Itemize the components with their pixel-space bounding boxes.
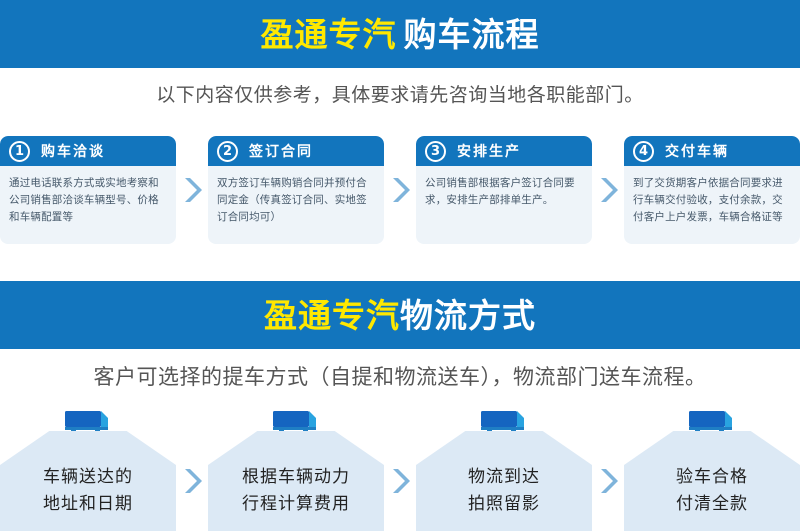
step-body-text: 通过电话联系方式或实地考察和公司销售部洽谈车辆型号、价格和车辆配置等	[0, 166, 176, 226]
purchase-step-card-3[interactable]: 3 安排生产 公司销售部根据客户签订合同要求，安排生产部排单生产。	[416, 136, 592, 244]
step-body-text: 公司销售部根据客户签订合同要求，安排生产部排单生产。	[416, 166, 592, 209]
chevron-right-icon	[384, 408, 416, 531]
purchase-step-card-4[interactable]: 4 交付车辆 到了交货期客户依据合同要求进行车辆交付验收，支付余款，交付客户上户…	[624, 136, 800, 244]
chevron-right-icon	[176, 408, 208, 531]
purchase-step-header-2: 2 签订合同	[208, 136, 384, 166]
purchase-step-card-1[interactable]: 1 购车洽谈 通过电话联系方式或实地考察和公司销售部洽谈车辆型号、价格和车辆配置…	[0, 136, 176, 244]
purchase-step-card-2[interactable]: 2 签订合同 双方签订车辆购销合同并预付合同定金（传真签订合同、实地签订合同均可…	[208, 136, 384, 244]
chevron-right-icon	[176, 136, 208, 244]
step-title: 购车洽谈	[41, 141, 105, 161]
infographic-page: 盈通专汽购车流程 以下内容仅供参考，具体要求请先咨询当地各职能部门。 1 购车洽…	[0, 0, 800, 531]
logistics-banner: 盈通专汽物流方式	[0, 281, 800, 349]
step-body-text: 到了交货期客户依据合同要求进行车辆交付验收，支付余款，交付客户上户发票，车辆合格…	[624, 166, 800, 226]
purchase-step-header-3: 3 安排生产	[416, 136, 592, 166]
logistics-step-card-4[interactable]: 验车合格 付清全款	[624, 408, 800, 531]
logistics-banner-heading: 物流方式	[400, 296, 536, 335]
logistics-card-line2: 拍照留影	[416, 491, 592, 518]
logistics-steps-row: 车辆送达的 地址和日期 根据车辆动力 行程计算费用	[0, 408, 800, 531]
logistics-card-line1: 车辆送达的	[0, 464, 176, 491]
logistics-card-line2: 地址和日期	[0, 491, 176, 518]
logistics-banner-title: 盈通专汽物流方式	[264, 299, 536, 332]
purchase-step-header-1: 1 购车洽谈	[0, 136, 176, 166]
chevron-right-icon	[384, 136, 416, 244]
purchase-banner-heading: 购车流程	[404, 15, 540, 54]
chevron-right-icon	[592, 408, 624, 531]
logistics-banner-brand: 盈通专汽	[264, 296, 400, 335]
logistics-step-card-3[interactable]: 物流到达 拍照留影	[416, 408, 592, 531]
logistics-card-line1: 根据车辆动力	[208, 464, 384, 491]
purchase-step-header-4: 4 交付车辆	[624, 136, 800, 166]
purchase-banner-title: 盈通专汽购车流程	[261, 18, 540, 51]
step-number-badge: 2	[217, 141, 238, 162]
logistics-card-text: 验车合格 付清全款	[624, 464, 800, 518]
step-body-text: 双方签订车辆购销合同并预付合同定金（传真签订合同、实地签订合同均可）	[208, 166, 384, 226]
logistics-card-text: 车辆送达的 地址和日期	[0, 464, 176, 518]
step-title: 安排生产	[457, 141, 521, 161]
purchase-subtitle: 以下内容仅供参考，具体要求请先咨询当地各职能部门。	[0, 80, 800, 107]
logistics-card-line2: 付清全款	[624, 491, 800, 518]
step-number-badge: 4	[633, 141, 654, 162]
purchase-banner-brand: 盈通专汽	[261, 15, 397, 54]
logistics-step-card-1[interactable]: 车辆送达的 地址和日期	[0, 408, 176, 531]
purchase-steps-row: 1 购车洽谈 通过电话联系方式或实地考察和公司销售部洽谈车辆型号、价格和车辆配置…	[0, 136, 800, 248]
logistics-step-card-2[interactable]: 根据车辆动力 行程计算费用	[208, 408, 384, 531]
step-title: 签订合同	[249, 141, 313, 161]
logistics-card-line2: 行程计算费用	[208, 491, 384, 518]
chevron-right-icon	[592, 136, 624, 244]
logistics-card-line1: 验车合格	[624, 464, 800, 491]
step-number-badge: 3	[425, 141, 446, 162]
logistics-card-line1: 物流到达	[416, 464, 592, 491]
step-title: 交付车辆	[665, 141, 729, 161]
logistics-card-text: 根据车辆动力 行程计算费用	[208, 464, 384, 518]
step-number-badge: 1	[9, 141, 30, 162]
purchase-banner: 盈通专汽购车流程	[0, 0, 800, 68]
logistics-subtitle: 客户可选择的提车方式（自提和物流送车），物流部门送车流程。	[0, 361, 800, 391]
logistics-card-text: 物流到达 拍照留影	[416, 464, 592, 518]
